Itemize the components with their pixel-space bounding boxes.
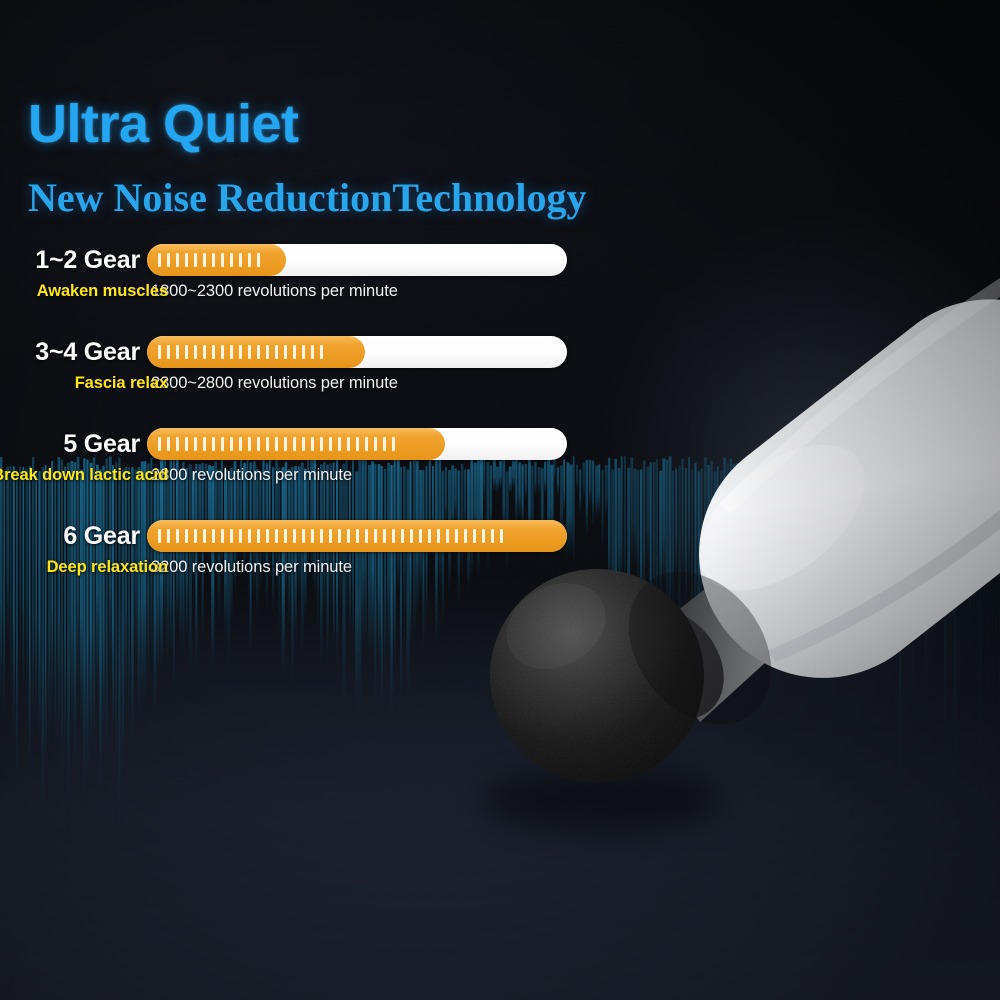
tick-mark xyxy=(284,345,287,359)
tick-mark xyxy=(275,437,278,451)
tick-mark xyxy=(248,253,251,267)
tick-mark xyxy=(167,529,170,543)
gear-row: 1~2 Gear1800~2300 revolutions per minute… xyxy=(0,243,600,313)
tick-mark xyxy=(374,437,377,451)
tick-mark xyxy=(176,253,179,267)
tick-mark xyxy=(455,529,458,543)
tick-mark xyxy=(293,529,296,543)
speed-bar-fill xyxy=(147,336,365,368)
tick-mark xyxy=(239,437,242,451)
tick-mark xyxy=(185,345,188,359)
tick-mark xyxy=(302,437,305,451)
tick-mark xyxy=(221,253,224,267)
tick-mark xyxy=(239,253,242,267)
tick-mark xyxy=(302,529,305,543)
tick-mark xyxy=(230,345,233,359)
gear-rpm-label: 2300~2800 revolutions per minute xyxy=(151,374,398,393)
tick-mark xyxy=(257,437,260,451)
tick-mark xyxy=(266,529,269,543)
tick-mark xyxy=(320,345,323,359)
gear-rpm-label: 2800 revolutions per minute xyxy=(151,466,352,485)
gear-rpm-label: 3200 revolutions per minute xyxy=(151,558,352,577)
tick-mark xyxy=(500,529,503,543)
tick-mark xyxy=(392,437,395,451)
tick-mark xyxy=(284,529,287,543)
tick-mark xyxy=(212,345,215,359)
tick-mark xyxy=(167,345,170,359)
tick-mark xyxy=(167,253,170,267)
speed-bar-fill xyxy=(147,244,286,276)
speed-bar-track[interactable] xyxy=(147,428,567,460)
tick-mark xyxy=(266,345,269,359)
tick-mark xyxy=(311,437,314,451)
tick-mark xyxy=(230,253,233,267)
tick-mark xyxy=(176,345,179,359)
tick-mark xyxy=(248,345,251,359)
tick-mark xyxy=(365,529,368,543)
tick-mark xyxy=(284,437,287,451)
tick-mark xyxy=(320,437,323,451)
tick-mark xyxy=(302,345,305,359)
tick-mark xyxy=(230,437,233,451)
speed-bar-ticks xyxy=(158,437,435,451)
speed-bar-fill xyxy=(147,428,445,460)
page-subtitle: New Noise ReductionTechnology xyxy=(28,174,587,221)
tick-mark xyxy=(158,345,161,359)
tick-mark xyxy=(221,345,224,359)
tick-mark xyxy=(338,529,341,543)
tick-mark xyxy=(446,529,449,543)
tick-mark xyxy=(158,437,161,451)
tick-mark xyxy=(248,529,251,543)
speed-bar-track[interactable] xyxy=(147,244,567,276)
tick-mark xyxy=(230,529,233,543)
gear-row: 6 Gear3200 revolutions per minuteDeep re… xyxy=(0,519,600,589)
gear-benefit-label: Awaken muscles xyxy=(37,282,168,301)
page-title: Ultra Quiet xyxy=(28,93,299,155)
tick-mark xyxy=(176,437,179,451)
speed-bar-ticks xyxy=(158,345,355,359)
gear-label: 5 Gear xyxy=(0,427,140,461)
tick-mark xyxy=(212,529,215,543)
gear-label: 3~4 Gear xyxy=(0,335,140,369)
tick-mark xyxy=(311,529,314,543)
tick-mark xyxy=(203,529,206,543)
tick-mark xyxy=(248,437,251,451)
tick-mark xyxy=(311,345,314,359)
tick-mark xyxy=(212,253,215,267)
tick-mark xyxy=(212,437,215,451)
tick-mark xyxy=(473,529,476,543)
gear-label: 6 Gear xyxy=(0,519,140,553)
product-feature-graphic: Ultra Quiet New Noise ReductionTechnolog… xyxy=(0,0,1000,1000)
gear-row: 3~4 Gear2300~2800 revolutions per minute… xyxy=(0,335,600,405)
tick-mark xyxy=(383,437,386,451)
tick-mark xyxy=(383,529,386,543)
tick-mark xyxy=(491,529,494,543)
tick-mark xyxy=(221,529,224,543)
tick-mark xyxy=(239,345,242,359)
tick-mark xyxy=(428,529,431,543)
tick-mark xyxy=(275,529,278,543)
tick-mark xyxy=(347,437,350,451)
tick-mark xyxy=(329,437,332,451)
tick-mark xyxy=(356,529,359,543)
tick-mark xyxy=(185,437,188,451)
tick-mark xyxy=(320,529,323,543)
tick-mark xyxy=(167,437,170,451)
tick-mark xyxy=(374,529,377,543)
tick-mark xyxy=(194,529,197,543)
tick-mark xyxy=(464,529,467,543)
tick-mark xyxy=(203,437,206,451)
speed-bar-ticks xyxy=(158,529,557,543)
tick-mark xyxy=(437,529,440,543)
tick-mark xyxy=(482,529,485,543)
tick-mark xyxy=(419,529,422,543)
tick-mark xyxy=(401,529,404,543)
tick-mark xyxy=(329,529,332,543)
tick-mark xyxy=(221,437,224,451)
gear-benefit-label: Fascia relax xyxy=(75,374,168,393)
speed-bar-fill xyxy=(147,520,567,552)
tick-mark xyxy=(365,437,368,451)
tick-mark xyxy=(410,529,413,543)
speed-bar-ticks xyxy=(158,253,276,267)
tick-mark xyxy=(203,253,206,267)
tick-mark xyxy=(185,253,188,267)
tick-mark xyxy=(338,437,341,451)
tick-mark xyxy=(392,529,395,543)
tick-mark xyxy=(257,345,260,359)
tick-mark xyxy=(203,345,206,359)
tick-mark xyxy=(239,529,242,543)
tick-mark xyxy=(185,529,188,543)
gear-rpm-label: 1800~2300 revolutions per minute xyxy=(151,282,398,301)
tick-mark xyxy=(293,437,296,451)
tick-mark xyxy=(194,253,197,267)
gear-row: 5 Gear2800 revolutions per minuteBreak d… xyxy=(0,427,600,497)
tick-mark xyxy=(158,253,161,267)
tick-mark xyxy=(194,437,197,451)
tick-mark xyxy=(257,253,260,267)
tick-mark xyxy=(356,437,359,451)
tick-mark xyxy=(257,529,260,543)
tick-mark xyxy=(176,529,179,543)
tick-mark xyxy=(275,345,278,359)
speed-bar-track[interactable] xyxy=(147,520,567,552)
gear-benefit-label: Deep relaxation xyxy=(47,558,168,577)
tick-mark xyxy=(347,529,350,543)
tick-mark xyxy=(194,345,197,359)
gear-label: 1~2 Gear xyxy=(0,243,140,277)
tick-mark xyxy=(266,437,269,451)
speed-bar-track[interactable] xyxy=(147,336,567,368)
gear-benefit-label: Break down lactic acid xyxy=(0,466,168,485)
tick-mark xyxy=(293,345,296,359)
tick-mark xyxy=(158,529,161,543)
